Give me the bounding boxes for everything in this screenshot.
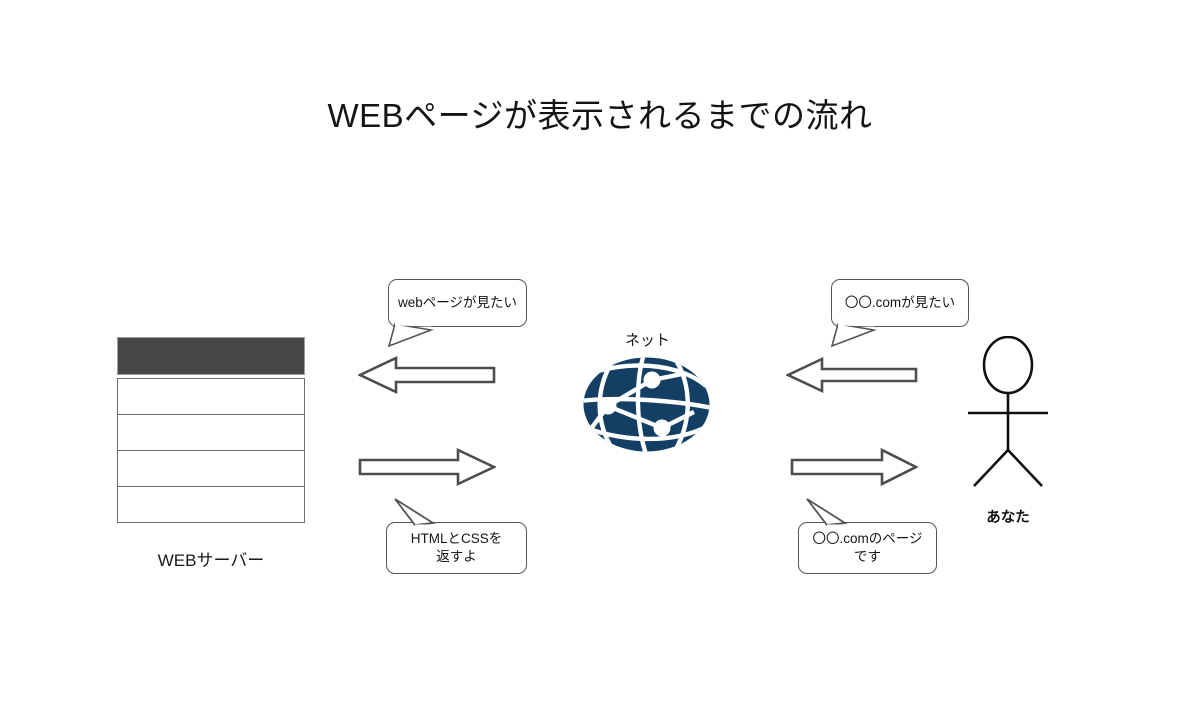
server-rack-icon — [117, 337, 305, 521]
speech-bubble-response-left: HTMLとCSSを 返すよ — [386, 522, 527, 574]
arrow-left-icon — [786, 355, 918, 395]
speech-bubble-tail-icon — [393, 497, 437, 527]
arrow-right-icon — [790, 447, 918, 487]
server-rack-slot — [117, 486, 305, 523]
speech-bubble-request-left: webページが見たい — [388, 279, 527, 327]
server-rack-slot — [117, 378, 305, 415]
speech-bubble-line2: 返すよ — [436, 549, 477, 564]
speech-bubble-text: HTMLとCSSを 返すよ — [411, 530, 503, 566]
speech-bubble-tail-icon — [805, 497, 849, 527]
network-globe-icon — [582, 356, 711, 453]
server-rack-slot — [117, 450, 305, 487]
speech-bubble-request-right: 〇〇.comが見たい — [831, 279, 969, 327]
server-rack-header — [117, 337, 305, 375]
speech-bubble-response-right: 〇〇.comのページ です — [798, 522, 937, 574]
slide-canvas: WEBページが表示されるまでの流れ WEBサーバー webページが見たい — [0, 0, 1200, 713]
speech-bubble-text: webページが見たい — [398, 294, 517, 312]
arrow-right-icon — [358, 447, 496, 487]
speech-bubble-text: 〇〇.comのページ です — [813, 530, 923, 566]
server-label: WEBサーバー — [97, 546, 325, 571]
arrow-left-icon — [358, 355, 496, 395]
stick-figure-icon — [958, 336, 1058, 491]
speech-bubble-text: 〇〇.comが見たい — [845, 294, 955, 312]
speech-bubble-tail-icon — [387, 324, 431, 350]
speech-bubble-line1: 〇〇.comのページ — [813, 531, 923, 546]
speech-bubble-line1: HTMLとCSSを — [411, 531, 503, 546]
person-label: あなた — [948, 506, 1068, 527]
speech-bubble-line2: です — [854, 549, 881, 564]
speech-bubble-tail-icon — [830, 324, 874, 350]
server-rack-slot — [117, 414, 305, 451]
page-title: WEBページが表示されるまでの流れ — [0, 96, 1200, 136]
net-label: ネット — [575, 329, 720, 350]
